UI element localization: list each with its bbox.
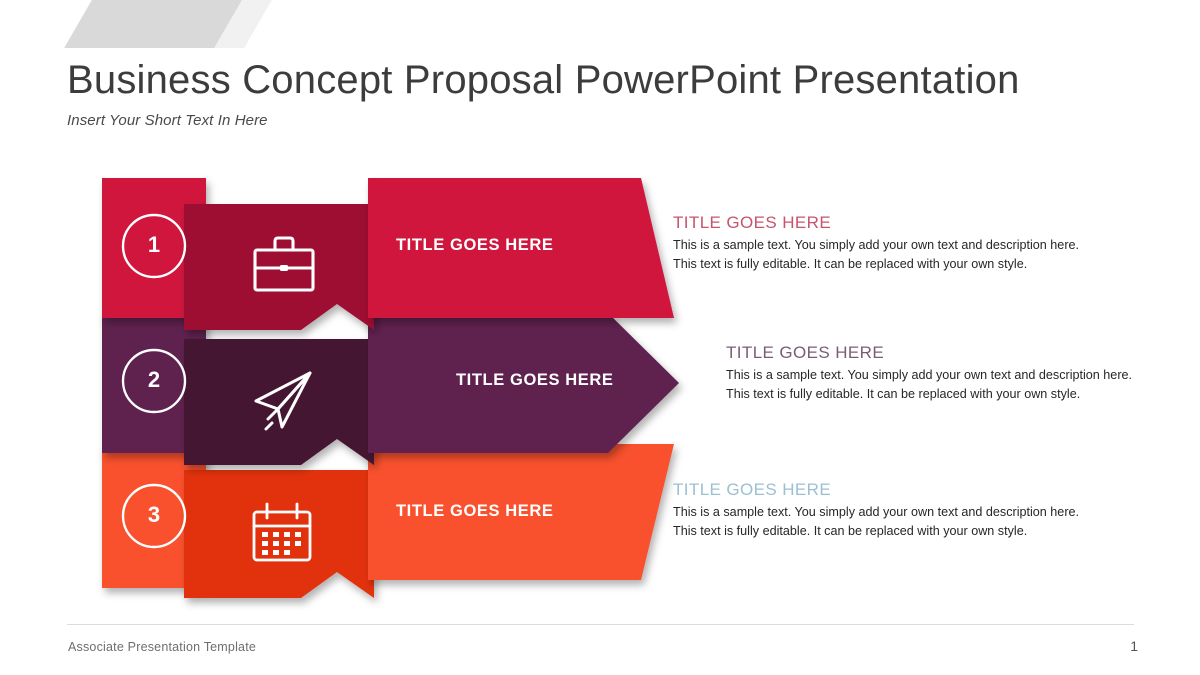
row-1-number-label: 1	[102, 234, 206, 256]
row-3-number-label: 3	[102, 504, 206, 526]
row-3-bar-title: TITLE GOES HERE	[396, 502, 554, 521]
footer-page-number: 1	[1130, 638, 1138, 654]
slide-canvas: Business Concept Proposal PowerPoint Pre…	[0, 0, 1200, 675]
info-1-title: TITLE GOES HERE	[673, 212, 1083, 233]
info-1-body: This is a sample text. You simply add yo…	[673, 236, 1083, 274]
row-1-shapes	[96, 170, 716, 350]
page-title: Business Concept Proposal PowerPoint Pre…	[67, 58, 1137, 103]
info-3-body: This is a sample text. You simply add yo…	[673, 503, 1083, 541]
footer-divider	[67, 624, 1134, 625]
decorative-corner-shapes	[0, 0, 300, 60]
page-subtitle: Insert Your Short Text In Here	[67, 112, 1137, 129]
row-2-number-label: 2	[102, 369, 206, 391]
info-2-body: This is a sample text. You simply add yo…	[726, 366, 1136, 404]
row-2-bar-title: TITLE GOES HERE	[456, 371, 614, 390]
info-2-title: TITLE GOES HERE	[726, 342, 1136, 363]
decor-parallelogram-front	[64, 0, 242, 48]
info-block-1: TITLE GOES HERE This is a sample text. Y…	[673, 212, 1083, 275]
diagram-row-1[interactable]: 1 TITLE GOES HERE	[96, 170, 716, 320]
row-2-icon-panel	[184, 339, 374, 465]
slide-header: Business Concept Proposal PowerPoint Pre…	[67, 58, 1137, 129]
footer-label: Associate Presentation Template	[68, 640, 256, 654]
process-diagram: 1 TITLE GOES HERE	[96, 170, 716, 590]
row-1-bar-title: TITLE GOES HERE	[396, 236, 554, 255]
info-block-2: TITLE GOES HERE This is a sample text. Y…	[726, 342, 1136, 405]
info-block-3: TITLE GOES HERE This is a sample text. Y…	[673, 479, 1083, 542]
info-3-title: TITLE GOES HERE	[673, 479, 1083, 500]
